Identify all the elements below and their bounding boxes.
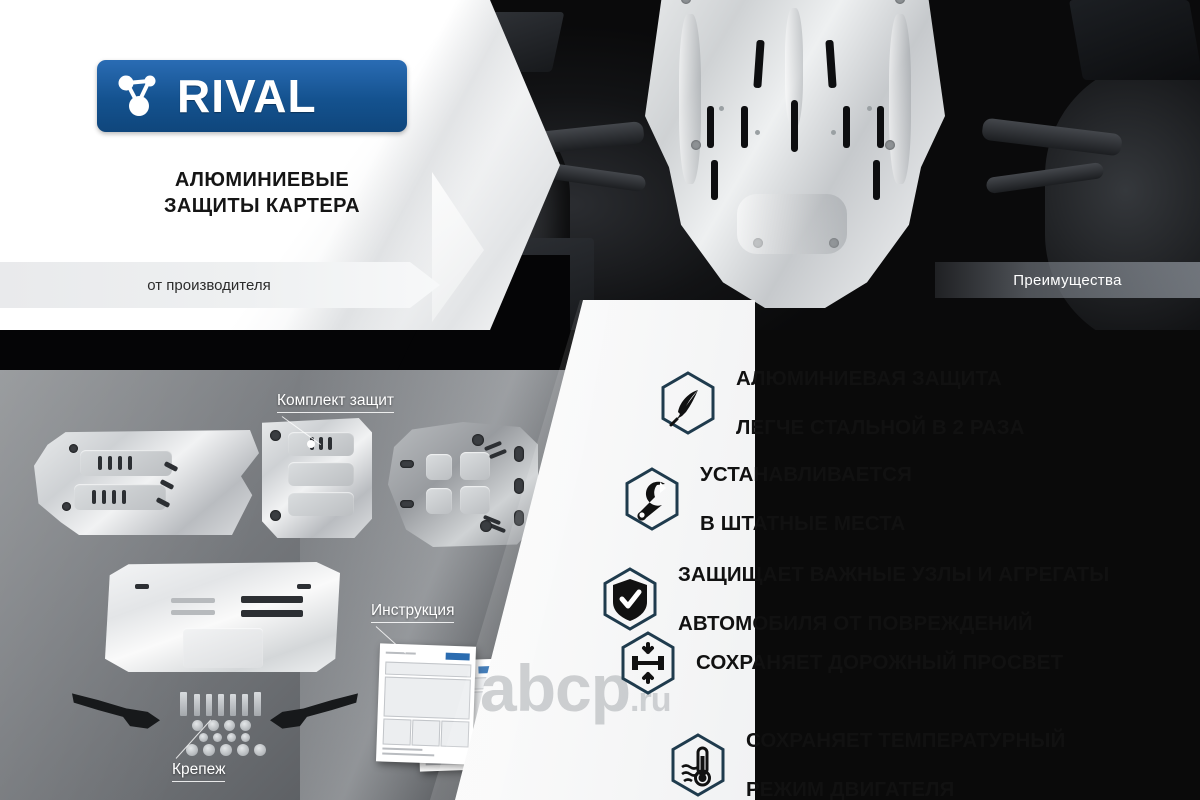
brand-name: RIVAL bbox=[177, 73, 317, 119]
callout-protection-set-label: Комплект защит bbox=[277, 392, 394, 413]
subtitle-strip: от производителя bbox=[0, 262, 440, 308]
shield-check-icon bbox=[600, 566, 660, 632]
benefit-5-line-2: РЕЖИМ ДВИГАТЕЛЯ bbox=[746, 778, 1065, 800]
headline-line-1: АЛЮМИНИЕВЫЕ bbox=[97, 168, 427, 194]
benefit-1-line-2: ЛЕГЧЕ СТАЛЬНОЙ В 2 РАЗА bbox=[736, 416, 1025, 441]
tab-advantages-label: Преимущества bbox=[1013, 272, 1121, 289]
brand-logo[interactable]: RIVAL bbox=[97, 60, 407, 132]
callout-protection-set: Комплект защит bbox=[277, 392, 394, 413]
benefit-3-line-1: ЗАЩИЩАЕТ ВАЖНЫЕ УЗЛЫ И АГРЕГАТЫ bbox=[678, 563, 1109, 588]
installed-skid-plate bbox=[645, 0, 945, 308]
headline-line-2: ЗАЩИТЫ КАРТЕРА bbox=[97, 194, 427, 220]
page-title: АЛЮМИНИЕВЫЕ ЗАЩИТЫ КАРТЕРА bbox=[97, 168, 427, 219]
promo-banner: RIVAL АЛЮМИНИЕВЫЕ ЗАЩИТЫ КАРТЕРА от прои… bbox=[0, 0, 1200, 800]
product-skid-plate-left bbox=[34, 430, 259, 535]
subtitle-text: от производителя bbox=[147, 277, 292, 294]
product-skid-plate-middle bbox=[262, 418, 372, 538]
molecule-icon bbox=[113, 71, 165, 121]
wrench-icon bbox=[622, 466, 682, 532]
benefit-text-4: СОХРАНЯЕТ ДОРОЖНЫЙ ПРОСВЕТ bbox=[696, 626, 1063, 700]
benefit-item-4: СОХРАНЯЕТ ДОРОЖНЫЙ ПРОСВЕТ bbox=[618, 626, 1178, 700]
benefits-list: АЛЮМИНИЕВАЯ ЗАЩИТА ЛЕГЧЕ СТАЛЬНОЙ В 2 РА… bbox=[600, 320, 1200, 800]
chassis-part-upper-right bbox=[1069, 0, 1200, 80]
callout-instruction-label: Инструкция bbox=[371, 602, 454, 623]
benefit-4-line-1: СОХРАНЯЕТ ДОРОЖНЫЙ ПРОСВЕТ bbox=[696, 651, 1063, 676]
callout-fasteners: Крепеж bbox=[172, 761, 225, 782]
callout-fasteners-label: Крепеж bbox=[172, 761, 225, 782]
benefit-item-5: СОХРАНЯЕТ ТЕМПЕРАТУРНЫЙ РЕЖИМ ДВИГАТЕЛЯ bbox=[668, 704, 1188, 800]
benefit-1-line-1: АЛЮМИНИЕВАЯ ЗАЩИТА bbox=[736, 367, 1025, 392]
leaf-icon bbox=[658, 370, 718, 436]
thermometer-icon bbox=[668, 732, 728, 798]
benefit-5-line-1: СОХРАНЯЕТ ТЕМПЕРАТУРНЫЙ bbox=[746, 729, 1065, 754]
benefit-text-5: СОХРАНЯЕТ ТЕМПЕРАТУРНЫЙ РЕЖИМ ДВИГАТЕЛЯ bbox=[746, 704, 1065, 800]
tab-advantages[interactable]: Преимущества bbox=[935, 262, 1200, 298]
product-skid-plate-large bbox=[105, 562, 340, 672]
benefit-2-line-2: В ШТАТНЫЕ МЕСТА bbox=[700, 512, 912, 537]
callout-instruction: Инструкция bbox=[371, 602, 454, 623]
benefit-2-line-1: УСТАНАВЛИВАЕТСЯ bbox=[700, 463, 912, 488]
clearance-icon bbox=[618, 630, 678, 696]
callout-protection-set-dot bbox=[307, 440, 315, 448]
